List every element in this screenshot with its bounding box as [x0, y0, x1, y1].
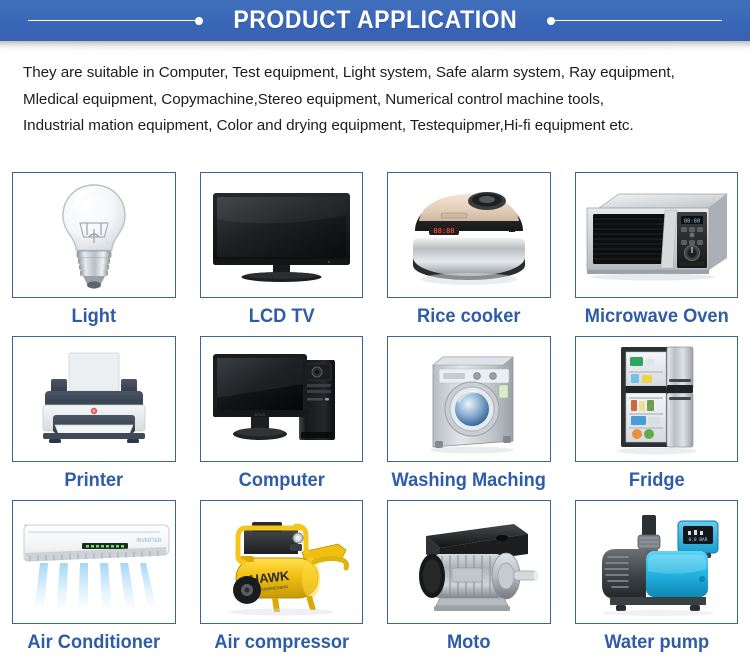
- product-cell-printer[interactable]: Printer: [0, 332, 188, 496]
- product-row: Printer: [0, 332, 750, 496]
- product-label: Rice cooker: [379, 298, 559, 332]
- product-image-card: INVERTER: [12, 500, 176, 624]
- air-compressor-icon: HAWK AIR COMPRESSOR: [206, 506, 356, 618]
- product-cell-washing-machine[interactable]: Washing Maching: [375, 332, 563, 496]
- product-cell-air-conditioner[interactable]: INVERTER Air Conditioner: [0, 496, 188, 658]
- description-line: They are suitable in Computer, Test equi…: [23, 60, 735, 87]
- product-image-card: [575, 336, 739, 462]
- product-cell-water-pump[interactable]: 0.0 BAR: [563, 496, 750, 658]
- product-image-card: 0.0 BAR: [575, 500, 739, 624]
- product-label: Air compressor: [191, 624, 371, 658]
- air-conditioner-icon: INVERTER: [16, 509, 172, 615]
- header-right-decoration: [547, 19, 722, 22]
- svg-text:88:88: 88:88: [433, 227, 454, 235]
- electric-motor-icon: [396, 510, 542, 614]
- product-application-grid: Light: [0, 168, 750, 658]
- microwave-oven-icon: 88:88: [581, 186, 731, 284]
- product-row: INVERTER Air Conditioner: [0, 496, 750, 658]
- svg-text:0.0 BAR: 0.0 BAR: [689, 537, 708, 543]
- light-bulb-icon: [39, 179, 149, 291]
- product-cell-light[interactable]: Light: [0, 168, 188, 332]
- product-label: Light: [4, 298, 184, 332]
- product-image-card: [387, 500, 551, 624]
- banner-shadow: [0, 41, 750, 54]
- product-image-card: 88:88: [575, 172, 739, 298]
- water-pump-icon: 0.0 BAR: [582, 507, 730, 617]
- decoration-line: [28, 20, 196, 22]
- desktop-computer-icon: ASUS: [207, 346, 355, 452]
- page-header-banner: PRODUCT APPLICATION: [0, 0, 750, 41]
- product-image-card: 88:88: [387, 172, 551, 298]
- product-image-card: [12, 336, 176, 462]
- product-cell-rice-cooker[interactable]: 88:88 Rice cooker: [375, 168, 563, 332]
- product-cell-lcd-tv[interactable]: LCD TV: [188, 168, 376, 332]
- product-image-card: [12, 172, 176, 298]
- application-description: They are suitable in Computer, Test equi…: [23, 60, 735, 140]
- decoration-dot: [195, 17, 203, 25]
- product-cell-microwave-oven[interactable]: 88:88 Microwave Oven: [563, 168, 750, 332]
- product-row: Light: [0, 168, 750, 332]
- decoration-line: [554, 20, 722, 22]
- product-label: Moto: [379, 624, 559, 658]
- product-cell-moto[interactable]: Moto: [375, 496, 563, 658]
- product-label: Computer: [191, 462, 371, 496]
- product-label: Printer: [4, 462, 184, 496]
- description-line: Industrial mation equipment, Color and d…: [23, 113, 735, 140]
- lcd-tv-icon: [209, 185, 354, 285]
- product-label: Air Conditioner: [4, 624, 184, 658]
- product-cell-air-compressor[interactable]: HAWK AIR COMPRESSOR: [188, 496, 376, 658]
- printer-icon: [29, 349, 159, 449]
- product-image-card: ASUS: [200, 336, 364, 462]
- product-image-card: HAWK AIR COMPRESSOR: [200, 500, 364, 624]
- product-label: Water pump: [566, 624, 746, 658]
- description-line: Mledical equipment, Copymachine,Stereo e…: [23, 87, 735, 114]
- product-label: Washing Maching: [379, 462, 559, 496]
- product-image-card: [387, 336, 551, 462]
- svg-text:88:88: 88:88: [684, 219, 701, 225]
- page-title: PRODUCT APPLICATION: [233, 0, 517, 41]
- product-label: Microwave Oven: [566, 298, 746, 332]
- svg-text:ASUS: ASUS: [255, 412, 266, 417]
- product-cell-fridge[interactable]: Fridge: [563, 332, 750, 496]
- svg-text:INVERTER: INVERTER: [136, 538, 162, 544]
- rice-cooker-icon: 88:88: [399, 181, 539, 289]
- product-label: LCD TV: [191, 298, 371, 332]
- product-cell-computer[interactable]: ASUS Computer: [188, 332, 376, 496]
- product-label: Fridge: [566, 462, 746, 496]
- product-image-card: [200, 172, 364, 298]
- header-left-decoration: [28, 19, 203, 22]
- washing-machine-icon: [417, 343, 521, 455]
- fridge-icon: [611, 341, 701, 457]
